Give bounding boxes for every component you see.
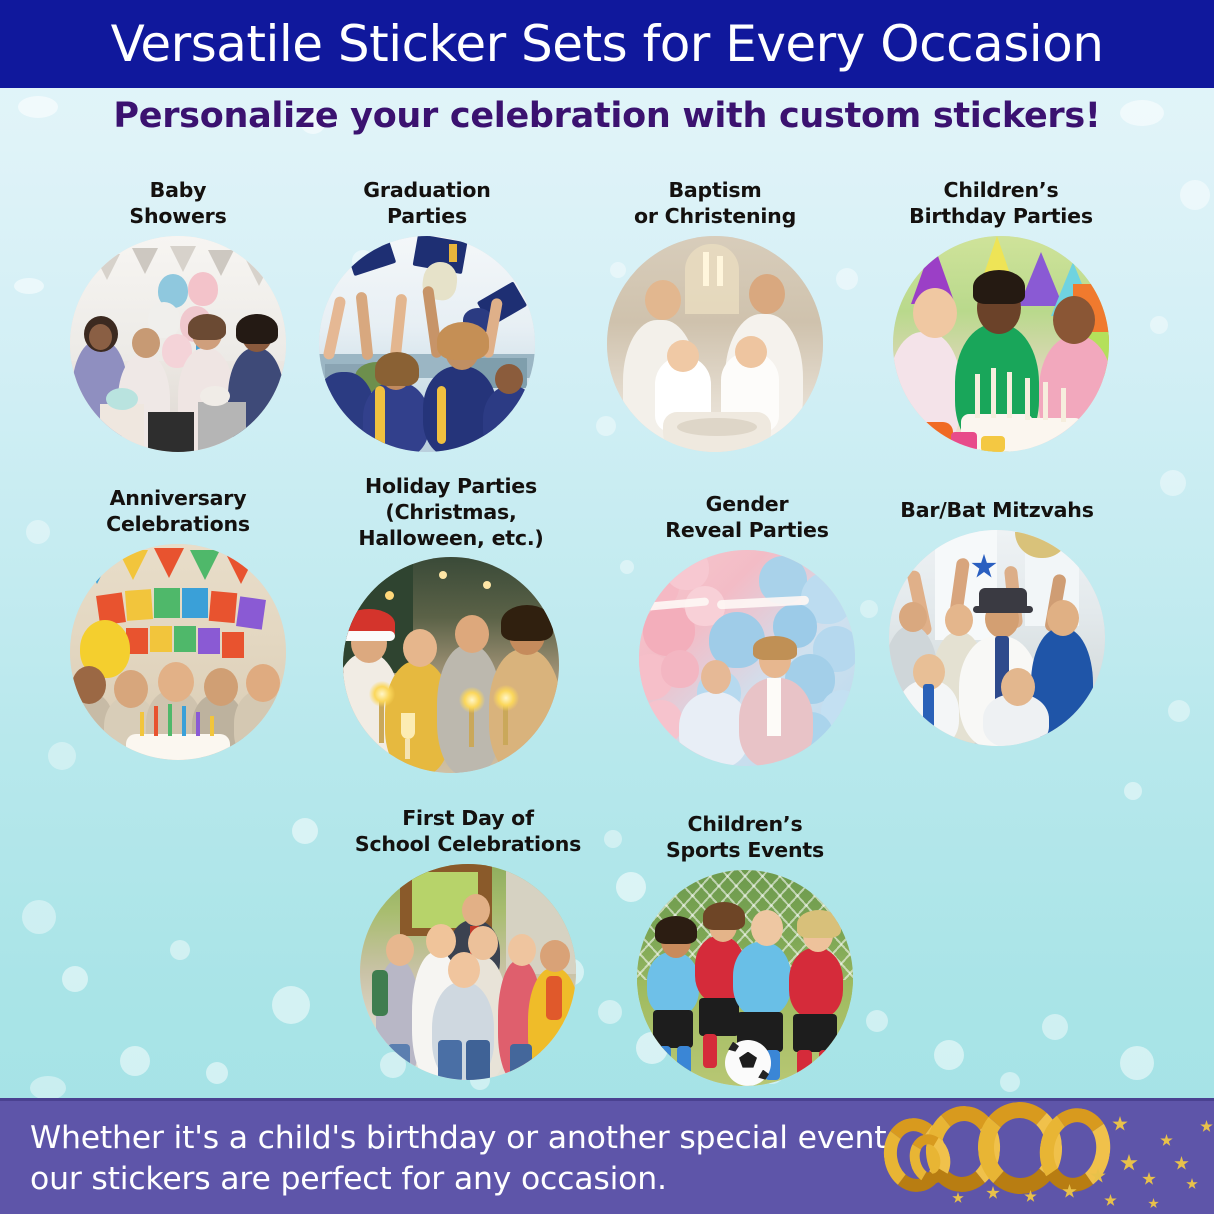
occasion-photo-childrens-birthday: [893, 236, 1109, 452]
occasion-card-first-day-school[interactable]: First Day of School Celebrations: [343, 806, 593, 1080]
occasion-photo-holiday: [343, 557, 559, 773]
occasion-label: First Day of School Celebrations: [343, 806, 593, 858]
occasion-card-childrens-sports[interactable]: Children’s Sports Events: [620, 812, 870, 1086]
occasion-label: Children’s Birthday Parties: [876, 178, 1126, 230]
occasion-card-holiday-parties[interactable]: Holiday Parties (Christmas, Halloween, e…: [326, 474, 576, 773]
occasion-label: Holiday Parties (Christmas, Halloween, e…: [326, 474, 576, 551]
occasion-photo-mitzvah: [889, 530, 1105, 746]
occasion-photo-graduation: [319, 236, 535, 452]
occasion-card-baby-showers[interactable]: Baby Showers: [53, 178, 303, 452]
infographic-page: Versatile Sticker Sets for Every Occasio…: [0, 0, 1214, 1214]
occasion-photo-school: [360, 864, 576, 1080]
footer-banner: Whether it's a child's birthday or anoth…: [0, 1098, 1214, 1214]
occasion-label: Baptism or Christening: [590, 178, 840, 230]
occasion-label: Children’s Sports Events: [620, 812, 870, 864]
occasion-card-bar-bat-mitzvahs[interactable]: Bar/Bat Mitzvahs: [872, 498, 1122, 746]
occasion-photo-baby-showers: [70, 236, 286, 452]
occasion-label: Graduation Parties: [302, 178, 552, 230]
occasions-grid: Baby Showers: [0, 0, 1214, 1214]
occasion-card-graduation-parties[interactable]: Graduation Parties: [302, 178, 552, 452]
occasion-photo-sports: [637, 870, 853, 1086]
occasion-card-anniversary[interactable]: Anniversary Celebrations: [53, 486, 303, 760]
occasion-photo-gender-reveal: [639, 550, 855, 766]
occasion-card-childrens-birthday[interactable]: Children’s Birthday Parties: [876, 178, 1126, 452]
subtitle: Personalize your celebration with custom…: [0, 96, 1214, 136]
occasion-label: Anniversary Celebrations: [53, 486, 303, 538]
occasion-photo-baptism: [607, 236, 823, 452]
occasion-card-baptism-christening[interactable]: Baptism or Christening: [590, 178, 840, 452]
gold-ribbon-icon: [874, 1098, 1214, 1214]
occasion-label: Bar/Bat Mitzvahs: [872, 498, 1122, 524]
header-banner: Versatile Sticker Sets for Every Occasio…: [0, 0, 1214, 88]
occasion-card-gender-reveal[interactable]: Gender Reveal Parties: [622, 492, 872, 766]
footer-message: Whether it's a child's birthday or anoth…: [30, 1118, 910, 1200]
occasion-label: Baby Showers: [53, 178, 303, 230]
page-title: Versatile Sticker Sets for Every Occasio…: [111, 15, 1104, 73]
occasion-photo-anniversary: [70, 544, 286, 760]
occasion-label: Gender Reveal Parties: [622, 492, 872, 544]
